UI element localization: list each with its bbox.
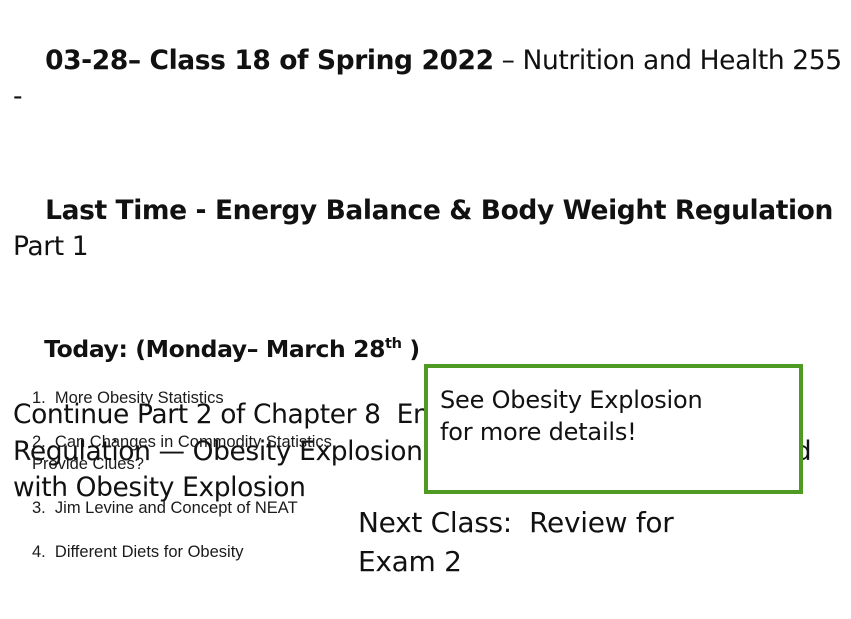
today-superscript: th bbox=[385, 335, 402, 352]
list-item: 4. Different Diets for Obesity bbox=[32, 542, 332, 564]
list-item-number: 3. bbox=[32, 499, 46, 517]
list-item-label: Can Changes in Commodity Statistics Prov… bbox=[32, 433, 336, 473]
list-item-label: Different Diets for Obesity bbox=[46, 543, 244, 561]
header-line-title: 03-28– Class 18 of Spring 2022 – Nutriti… bbox=[13, 6, 843, 152]
list-item: 3. Jim Levine and Concept of NEAT bbox=[32, 498, 332, 520]
list-item-label: Jim Levine and Concept of NEAT bbox=[46, 499, 298, 517]
today-suffix: ) bbox=[402, 335, 420, 363]
list-item: 2. Can Changes in Commodity Statistics P… bbox=[32, 432, 332, 476]
next-class-note: Next Class: Review for Exam 2 bbox=[358, 504, 798, 581]
list-item-number: 4. bbox=[32, 543, 46, 561]
slide-canvas: { "slide": { "background_color": "#fffff… bbox=[0, 0, 851, 619]
callout-box: See Obesity Explosion for more details! bbox=[424, 364, 803, 494]
list-item-number: 2. bbox=[32, 433, 46, 451]
list-item: 1. More Obesity Statistics bbox=[32, 388, 332, 410]
header-line-lasttime: Last Time - Energy Balance & Body Weight… bbox=[13, 156, 843, 302]
header-lasttime-bold: Last Time - Energy Balance & Body Weight… bbox=[45, 195, 833, 226]
agenda-list: 1. More Obesity Statistics 2. Can Change… bbox=[32, 388, 332, 564]
list-item-number: 1. bbox=[32, 389, 46, 407]
list-item-label: More Obesity Statistics bbox=[46, 389, 224, 407]
callout-text: See Obesity Explosion for more details! bbox=[440, 384, 703, 448]
header-title-bold: 03-28– Class 18 of Spring 2022 bbox=[45, 45, 494, 76]
today-prefix: Today: (Monday– March 28 bbox=[44, 335, 385, 363]
